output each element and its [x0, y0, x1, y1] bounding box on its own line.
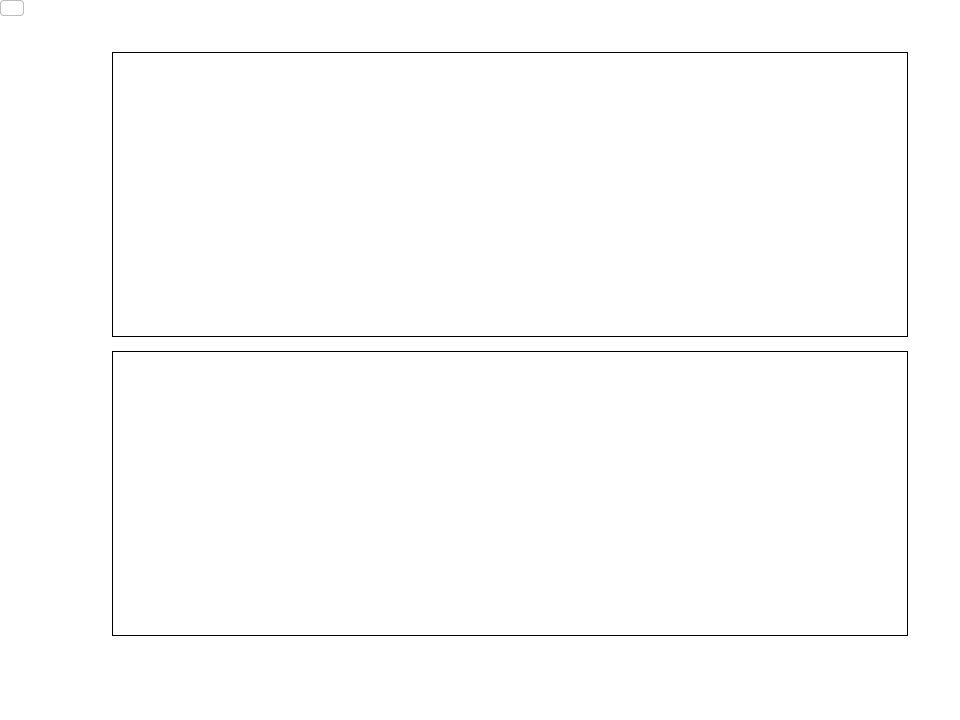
- bottom-panel-legend: [0, 0, 24, 16]
- top-panel-scatter: [113, 53, 908, 337]
- bottom-panel-plot-area: [112, 351, 908, 636]
- bottom-panel-scatter: [113, 352, 908, 636]
- figure-canvas: [0, 0, 960, 720]
- top-panel-plot-area: [112, 52, 908, 337]
